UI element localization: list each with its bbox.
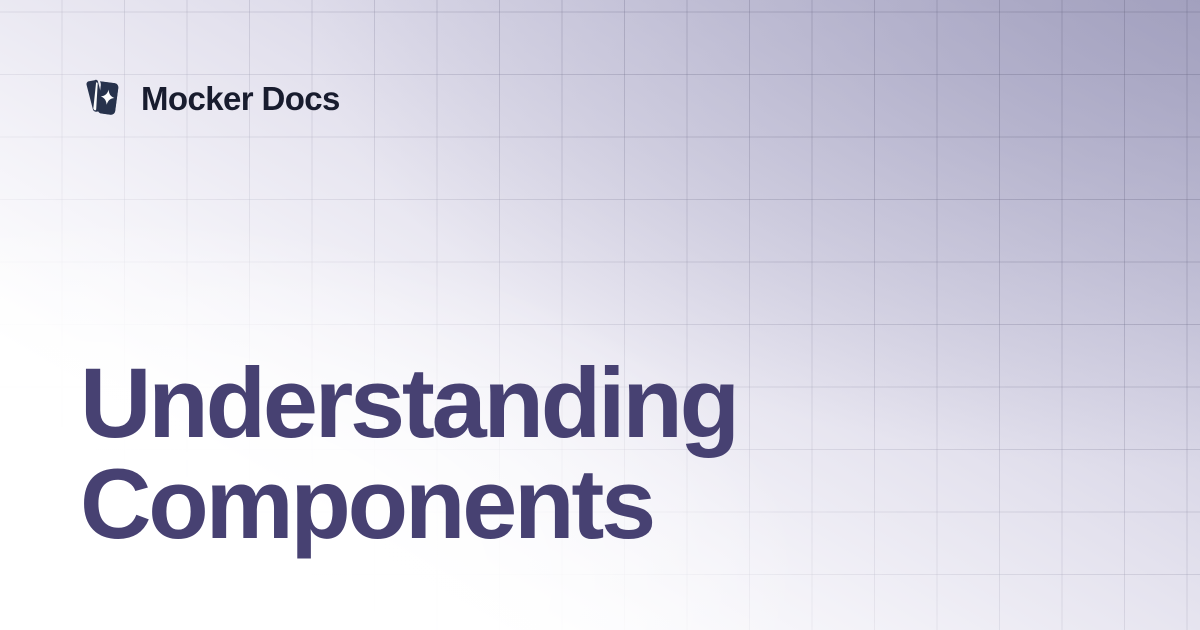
og-card: Mocker Docs Understanding Components xyxy=(0,0,1200,630)
brand-name: Mocker Docs xyxy=(141,82,340,115)
card-content: Mocker Docs Understanding Components xyxy=(0,0,1200,630)
page-title: Understanding Components xyxy=(80,352,1080,554)
sparkle-cards-icon xyxy=(80,76,124,120)
brand-lockup[interactable]: Mocker Docs xyxy=(80,76,340,120)
page-title-line-2: Components xyxy=(80,453,1080,554)
page-title-line-1: Understanding xyxy=(80,352,1080,453)
